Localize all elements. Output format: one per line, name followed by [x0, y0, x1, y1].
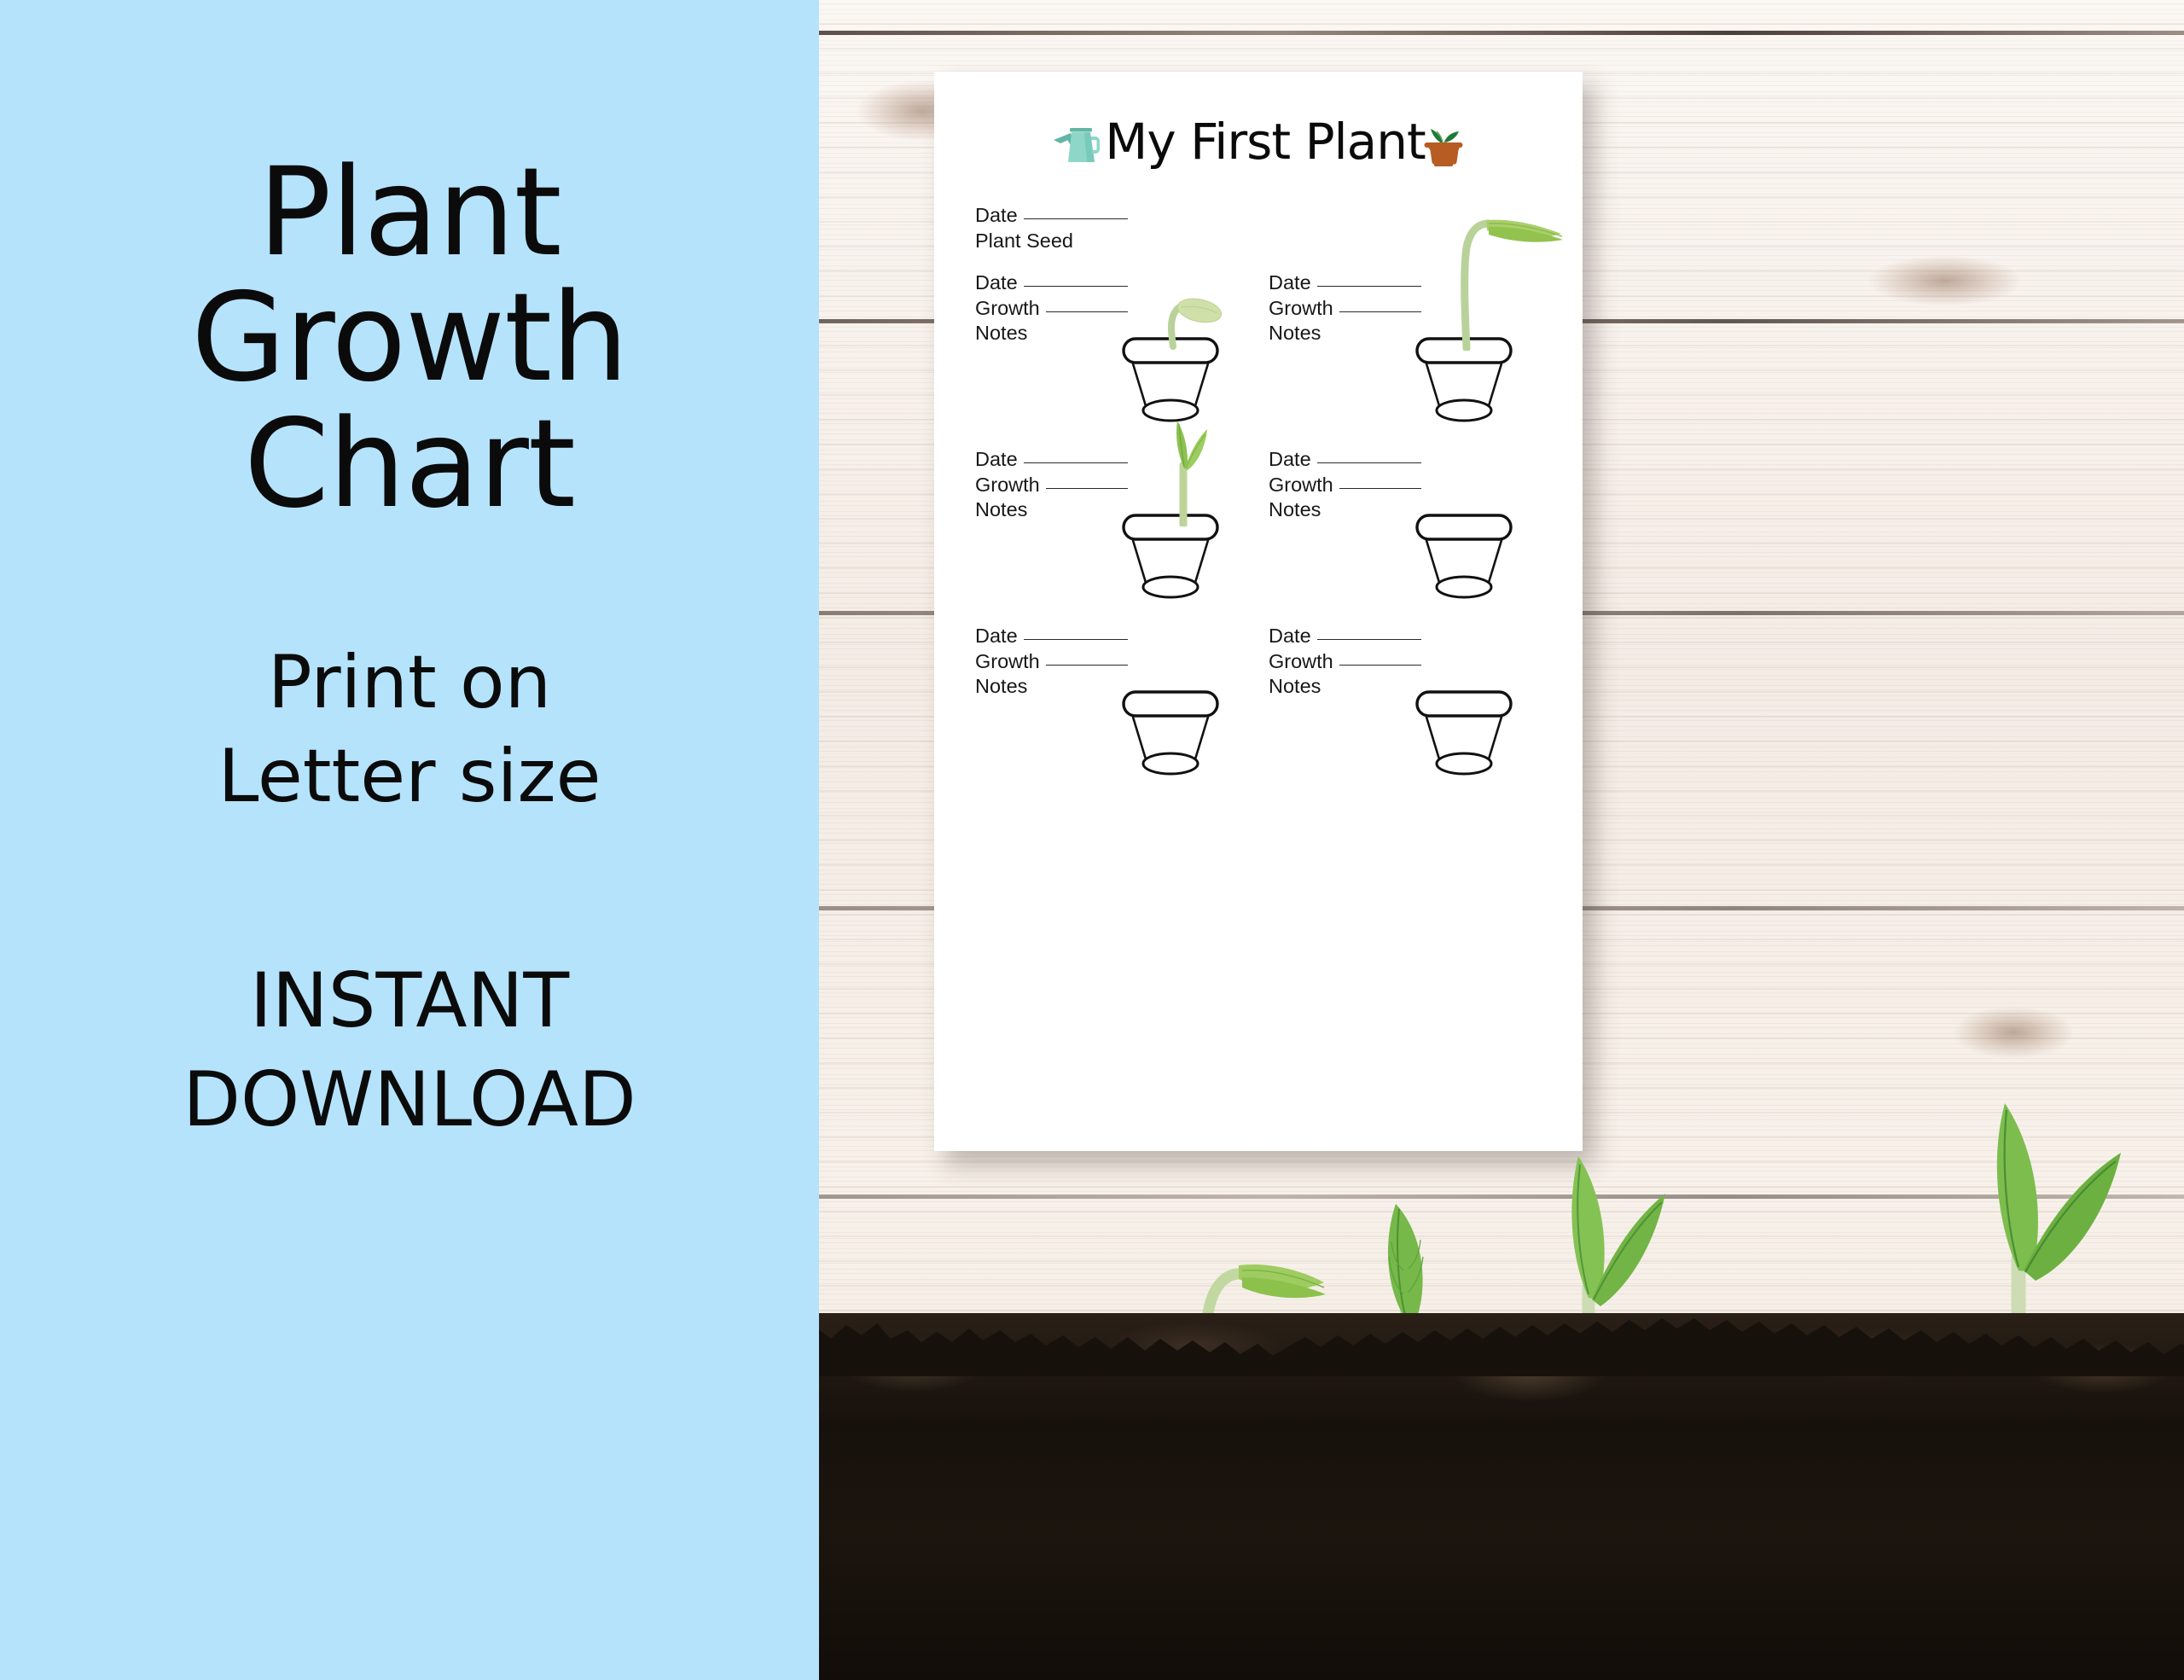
entry-grid: Date Plant Seed Date Growth Notes: [934, 200, 1583, 1151]
notes-label: Notes: [1269, 497, 1421, 523]
date-blank-line[interactable]: [1317, 286, 1421, 287]
notes-label: Notes: [1269, 321, 1421, 346]
growth-blank-line[interactable]: [1046, 488, 1128, 489]
promo-title-line-1: Plant: [0, 149, 819, 275]
promo-title: Plant Growth Chart: [0, 149, 819, 526]
sprout-bent-seedling: [1146, 290, 1224, 350]
date-blank-line[interactable]: [1024, 286, 1128, 287]
flower-pot-outline: [1120, 337, 1221, 422]
potted-plant-icon: [1422, 116, 1465, 167]
growth-label: Growth: [1269, 296, 1333, 322]
screenshot-canvas: Plant Growth Chart Print on Letter size …: [0, 0, 2184, 1680]
entry-stage-3-labels: Date Growth Notes: [975, 447, 1128, 523]
sprout-tall-bent-seedling: [1439, 210, 1567, 351]
entry-seed: Date Plant Seed: [975, 203, 1128, 253]
date-row: Date: [975, 270, 1128, 296]
entry-stage-2-labels: Date Growth Notes: [1269, 270, 1421, 346]
growth-blank-line[interactable]: [1339, 665, 1421, 666]
flower-pot-outline: [1120, 690, 1221, 776]
growth-row: Growth: [975, 296, 1128, 322]
date-label: Date: [975, 203, 1018, 229]
entry-stage-5-labels: Date Growth Notes: [975, 624, 1128, 700]
growth-row: Growth: [1269, 473, 1421, 498]
flower-pot-outline: [1414, 514, 1514, 599]
growth-label: Growth: [1269, 473, 1333, 498]
notes-label: Notes: [975, 497, 1128, 523]
date-label: Date: [1269, 624, 1311, 649]
flower-pot-outline: [1120, 514, 1221, 599]
notes-label: Notes: [1269, 674, 1421, 700]
growth-blank-line[interactable]: [1046, 311, 1128, 312]
date-label: Date: [975, 270, 1018, 296]
sprout-two-leaf: [1149, 416, 1223, 526]
product-photo-scene: My First Plant: [819, 0, 2184, 1680]
notes-label: Notes: [975, 674, 1128, 700]
date-label: Date: [1269, 447, 1311, 473]
date-row: Date: [1269, 270, 1421, 296]
date-row: Date: [1269, 447, 1421, 473]
date-row: Date: [975, 624, 1128, 649]
date-blank-line[interactable]: [1024, 218, 1128, 219]
promo-cta-line-1: INSTANT: [0, 951, 819, 1050]
date-label: Date: [1269, 270, 1311, 296]
date-blank-line[interactable]: [1317, 462, 1421, 463]
plank-seam: [819, 31, 2184, 35]
promo-title-line-3: Chart: [0, 401, 819, 526]
date-row: Date: [975, 203, 1128, 229]
growth-label: Growth: [1269, 649, 1333, 675]
date-blank-line[interactable]: [1024, 639, 1128, 640]
date-row: Date: [1269, 624, 1421, 649]
growth-row: Growth: [975, 473, 1128, 498]
sheet-header: My First Plant: [934, 116, 1583, 167]
date-label: Date: [975, 624, 1018, 649]
date-label: Date: [975, 447, 1018, 473]
flower-pot-outline: [1414, 690, 1514, 776]
growth-label: Growth: [975, 473, 1040, 498]
promo-subtitle-line-1: Print on: [0, 636, 819, 730]
watering-can-icon: [1052, 118, 1105, 166]
soil-mound: [819, 1313, 2184, 1680]
printable-sheet: My First Plant: [934, 72, 1583, 1151]
promo-subtitle-line-2: Letter size: [0, 730, 819, 823]
soil-surface-edge: [819, 1313, 2184, 1376]
promo-title-line-2: Growth: [0, 275, 819, 400]
entry-stage-6-labels: Date Growth Notes: [1269, 624, 1421, 700]
date-row: Date: [975, 447, 1128, 473]
growth-label: Growth: [975, 296, 1040, 322]
entry-stage-1-labels: Date Growth Notes: [975, 270, 1128, 346]
promo-subtitle: Print on Letter size: [0, 636, 819, 823]
date-blank-line[interactable]: [1024, 462, 1128, 463]
growth-blank-line[interactable]: [1339, 311, 1421, 312]
wood-knot: [1868, 256, 2022, 305]
growth-row: Growth: [975, 649, 1128, 675]
sheet-title: My First Plant: [1105, 117, 1425, 166]
notes-label: Notes: [975, 321, 1128, 346]
growth-blank-line[interactable]: [1046, 665, 1128, 666]
growth-row: Growth: [1269, 296, 1421, 322]
date-blank-line[interactable]: [1317, 639, 1421, 640]
promo-cta: INSTANT DOWNLOAD: [0, 951, 819, 1149]
promo-cta-line-2: DOWNLOAD: [0, 1050, 819, 1149]
promo-panel: Plant Growth Chart Print on Letter size …: [0, 0, 819, 1680]
growth-row: Growth: [1269, 649, 1421, 675]
entry-stage-4-labels: Date Growth Notes: [1269, 447, 1421, 523]
growth-label: Growth: [975, 649, 1040, 675]
wood-knot: [1954, 1007, 2073, 1058]
plant-seed-label: Plant Seed: [975, 229, 1128, 254]
growth-blank-line[interactable]: [1339, 488, 1421, 489]
